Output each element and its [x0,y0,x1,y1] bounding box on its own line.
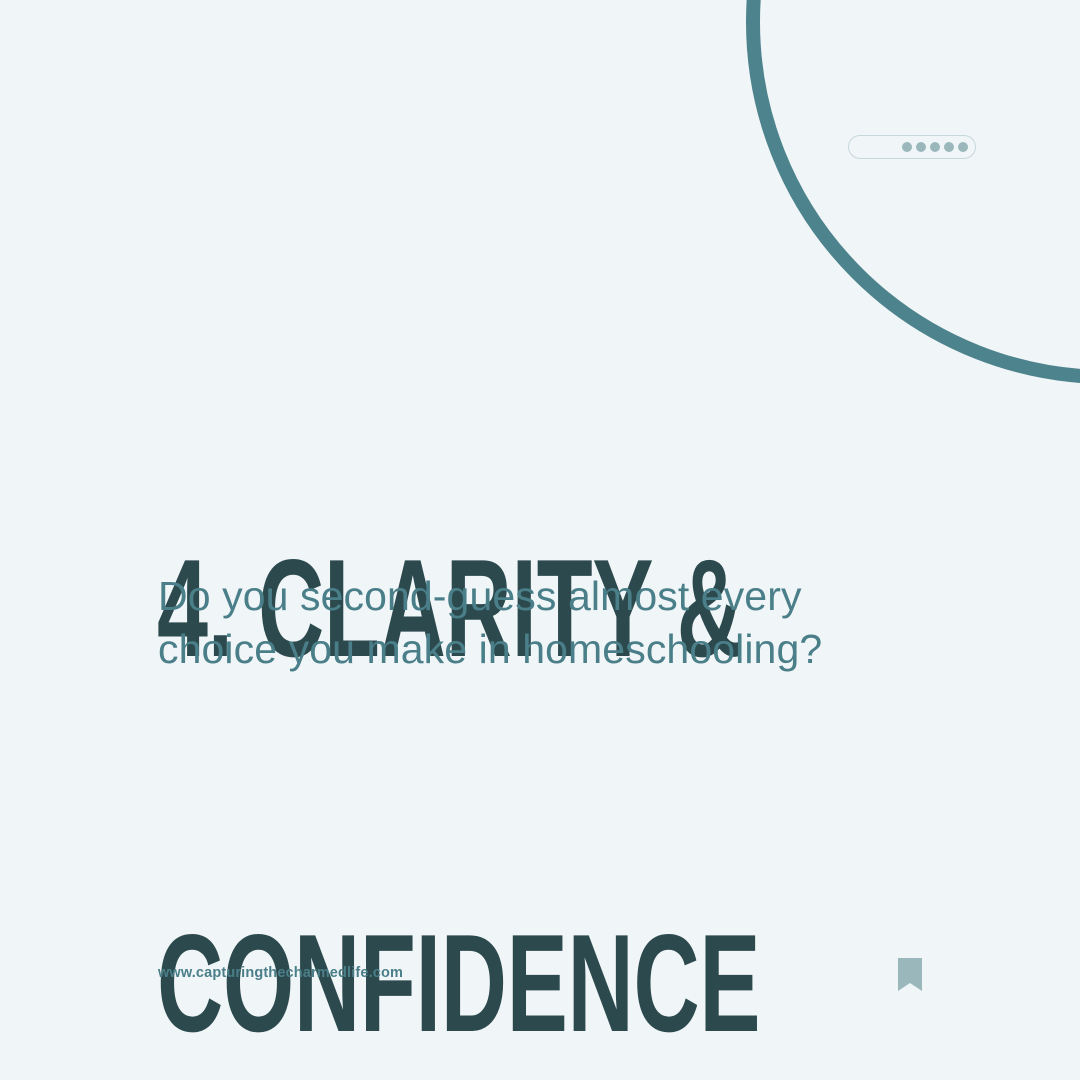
footer-website-url[interactable]: www.capturingthecharmedlife.com [158,965,403,981]
slide-canvas: 4. CLARITY & CONFIDENCE Do you second-gu… [0,0,1080,1080]
subtitle-line-1: Do you second-guess almost every [158,570,918,623]
headline: 4. CLARITY & CONFIDENCE [157,296,619,1080]
pill-dot-2 [916,142,926,152]
dots-pill-badge [848,135,976,159]
bookmark-icon [898,958,922,991]
pill-dot-5 [958,142,968,152]
pill-dot-3 [930,142,940,152]
pill-dots-group [902,142,968,152]
subtitle: Do you second-guess almost every choice … [158,570,918,676]
headline-line-2: CONFIDENCE [157,921,619,1046]
circle-outline-arc-icon [753,0,1080,377]
pill-dot-1 [902,142,912,152]
pill-dot-4 [944,142,954,152]
subtitle-line-2: choice you make in homeschooling? [158,623,918,676]
